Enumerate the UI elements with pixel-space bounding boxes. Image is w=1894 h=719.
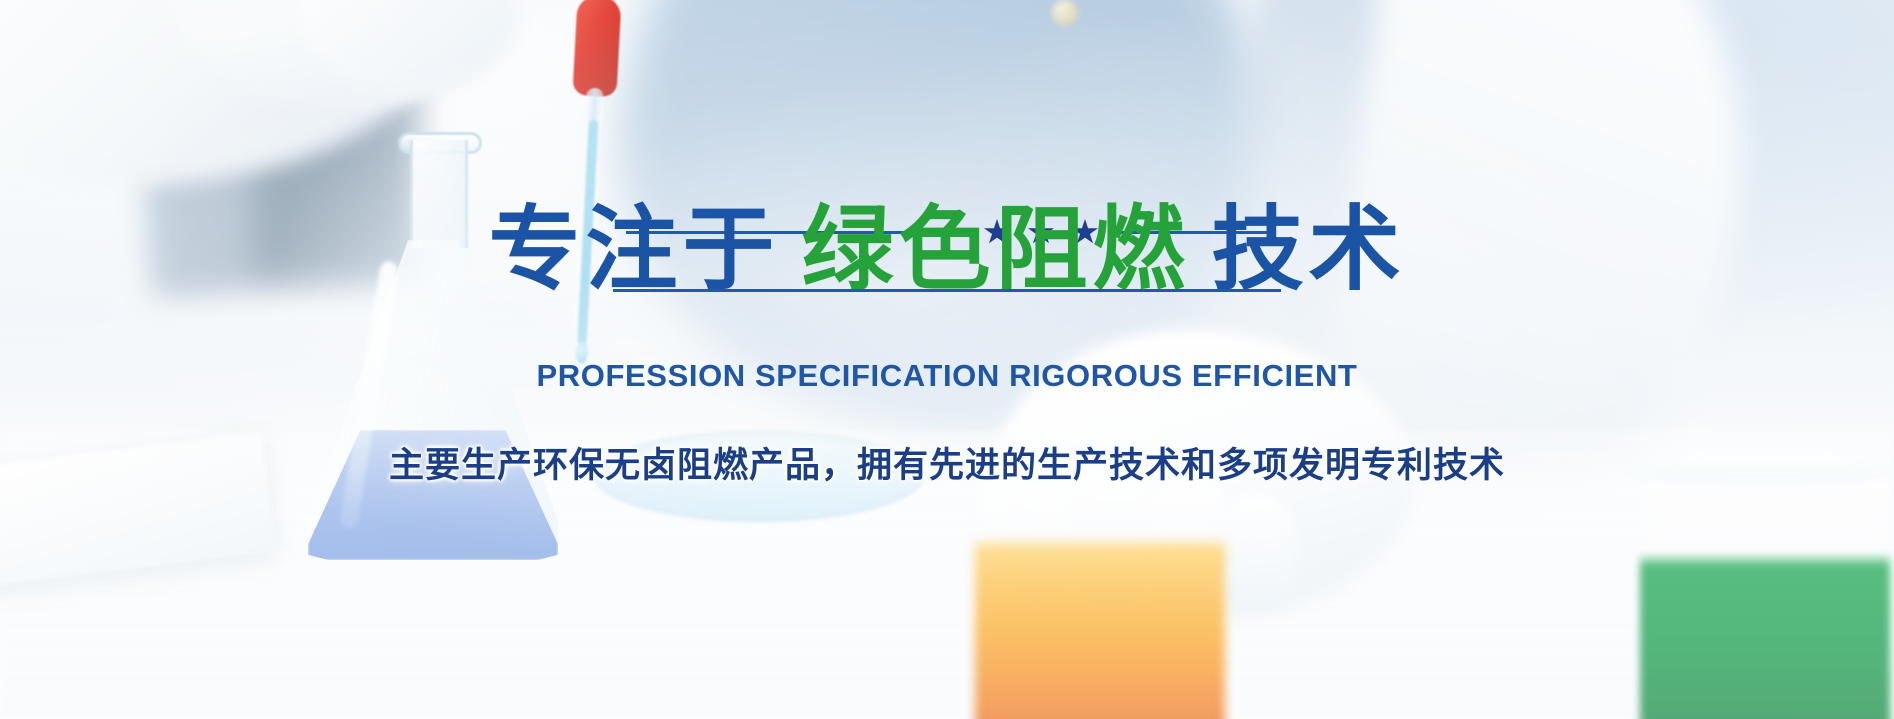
decorative-rule-bottom (613, 289, 1281, 292)
orange-beaker-icon (975, 450, 1225, 719)
pipette-red-bulb (572, 0, 621, 97)
hero-banner: 专注于绿色阻燃技术 PROFESSION SPECIFICATION RIGOR… (0, 0, 1894, 719)
banner-description-chinese: 主要生产环保无卤阻燃产品，拥有先进的生产技术和多项发明专利技术 (0, 437, 1894, 488)
banner-subtitle-english: PROFESSION SPECIFICATION RIGOROUS EFFICI… (0, 358, 1894, 394)
headline-part-focus: 专注于 (488, 199, 779, 301)
headline-part-green-flame-retardant: 绿色阻燃 (801, 199, 1189, 301)
green-beaker-icon (1640, 480, 1890, 719)
coat-button-icon (1052, 0, 1078, 26)
headline-part-technology: 技术 (1212, 199, 1406, 301)
